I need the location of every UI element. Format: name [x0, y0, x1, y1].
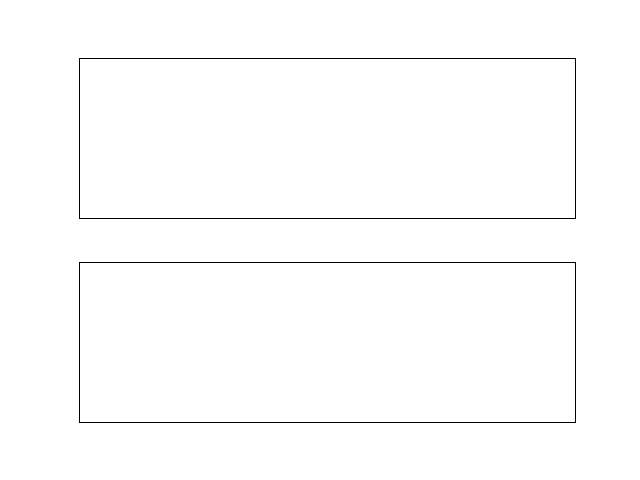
phase-noise-trace	[80, 263, 575, 422]
satellite-count-trace	[80, 59, 575, 218]
matplotlib-figure	[0, 0, 640, 480]
top-axes-plot-area	[79, 58, 576, 219]
bottom-axes-plot-area	[79, 262, 576, 423]
